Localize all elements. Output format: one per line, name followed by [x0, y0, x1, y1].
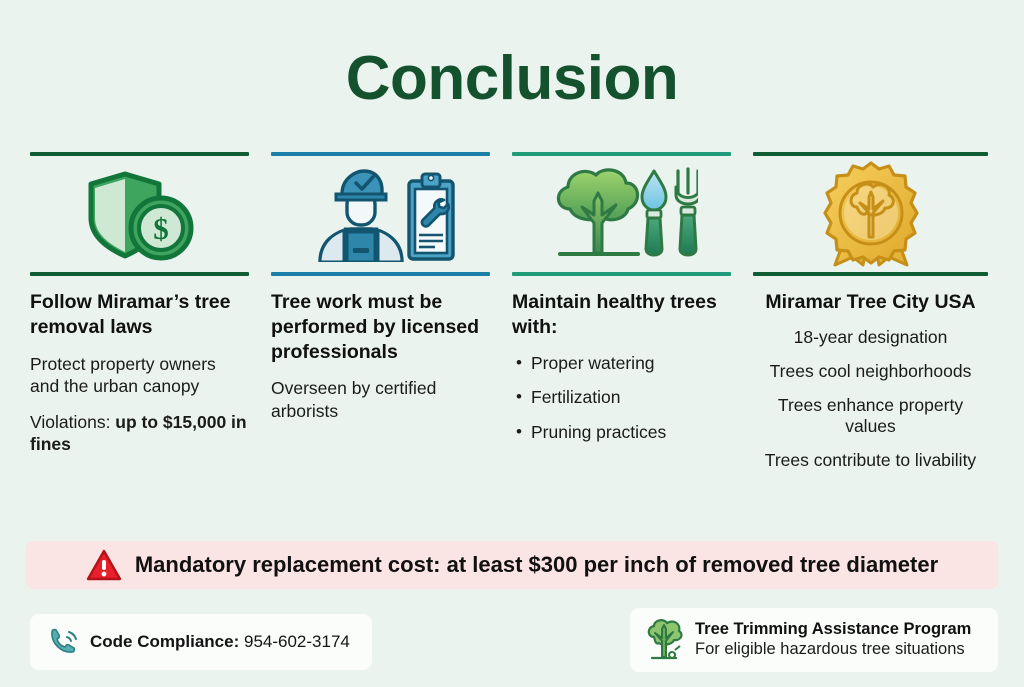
svg-text:$: $	[153, 211, 169, 246]
page-title: Conclusion	[0, 46, 1024, 111]
list-item: Proper watering	[512, 353, 731, 375]
column-heading: Follow Miramar’s tree removal laws	[30, 290, 249, 340]
column-tree-city-usa: Miramar Tree City USA 18-year designatio…	[753, 152, 994, 472]
warning-triangle-icon	[86, 549, 122, 582]
tree-trimming-program-card[interactable]: Tree Trimming Assistance Program For eli…	[630, 608, 998, 672]
list-item: Pruning practices	[512, 422, 731, 444]
phone-ringing-icon	[48, 628, 78, 656]
column-paragraph-1: 18-year designation	[753, 327, 988, 349]
program-subtitle: For eligible hazardous tree situations	[695, 640, 971, 660]
warning-text: Mandatory replacement cost: at least $30…	[135, 552, 938, 578]
code-compliance-card[interactable]: Code Compliance: 954-602-3174	[30, 614, 372, 670]
shield-dollar-icon: $	[30, 156, 249, 272]
column-rule-bottom	[753, 272, 988, 276]
program-text: Tree Trimming Assistance Program For eli…	[695, 620, 971, 660]
column-paragraph-4: Trees contribute to livability	[753, 450, 988, 472]
code-compliance-text: Code Compliance: 954-602-3174	[90, 632, 350, 652]
column-tree-removal-laws: $ Follow Miramar’s tree removal laws Pro…	[30, 152, 271, 472]
award-ribbon-tree-icon	[753, 156, 988, 272]
column-paragraph-2: Trees cool neighborhoods	[753, 361, 988, 383]
column-paragraph-1: Overseen by certified arborists	[271, 377, 490, 422]
infographic-page: Conclusion $ Follow Miramar’s tree remov…	[0, 0, 1024, 687]
columns-container: $ Follow Miramar’s tree removal laws Pro…	[30, 152, 994, 472]
column-rule-bottom	[512, 272, 731, 276]
tree-garden-tools-icon	[512, 156, 731, 272]
column-heading: Miramar Tree City USA	[753, 290, 988, 315]
healthy-tree-bullets: Proper watering Fertilization Pruning pr…	[512, 353, 731, 445]
worker-clipboard-icon	[271, 156, 490, 272]
column-paragraph-2: Violations: up to $15,000 in fines	[30, 411, 249, 456]
column-paragraph-3: Trees enhance property values	[753, 395, 988, 439]
column-rule-bottom	[30, 272, 249, 276]
column-licensed-professionals: Tree work must be performed by licensed …	[271, 152, 512, 472]
code-compliance-phone[interactable]: 954-602-3174	[244, 632, 350, 651]
column-heading: Tree work must be performed by licensed …	[271, 290, 490, 364]
column-paragraph-1: Protect property owners and the urban ca…	[30, 353, 249, 398]
list-item: Fertilization	[512, 387, 731, 409]
program-title: Tree Trimming Assistance Program	[695, 620, 971, 640]
code-compliance-label: Code Compliance:	[90, 632, 239, 651]
column-heading: Maintain healthy trees with:	[512, 290, 731, 340]
warning-banner: Mandatory replacement cost: at least $30…	[26, 541, 998, 589]
tree-icon	[644, 619, 684, 661]
violations-label: Violations:	[30, 412, 115, 432]
column-healthy-trees: Maintain healthy trees with: Proper wate…	[512, 152, 753, 472]
column-rule-bottom	[271, 272, 490, 276]
